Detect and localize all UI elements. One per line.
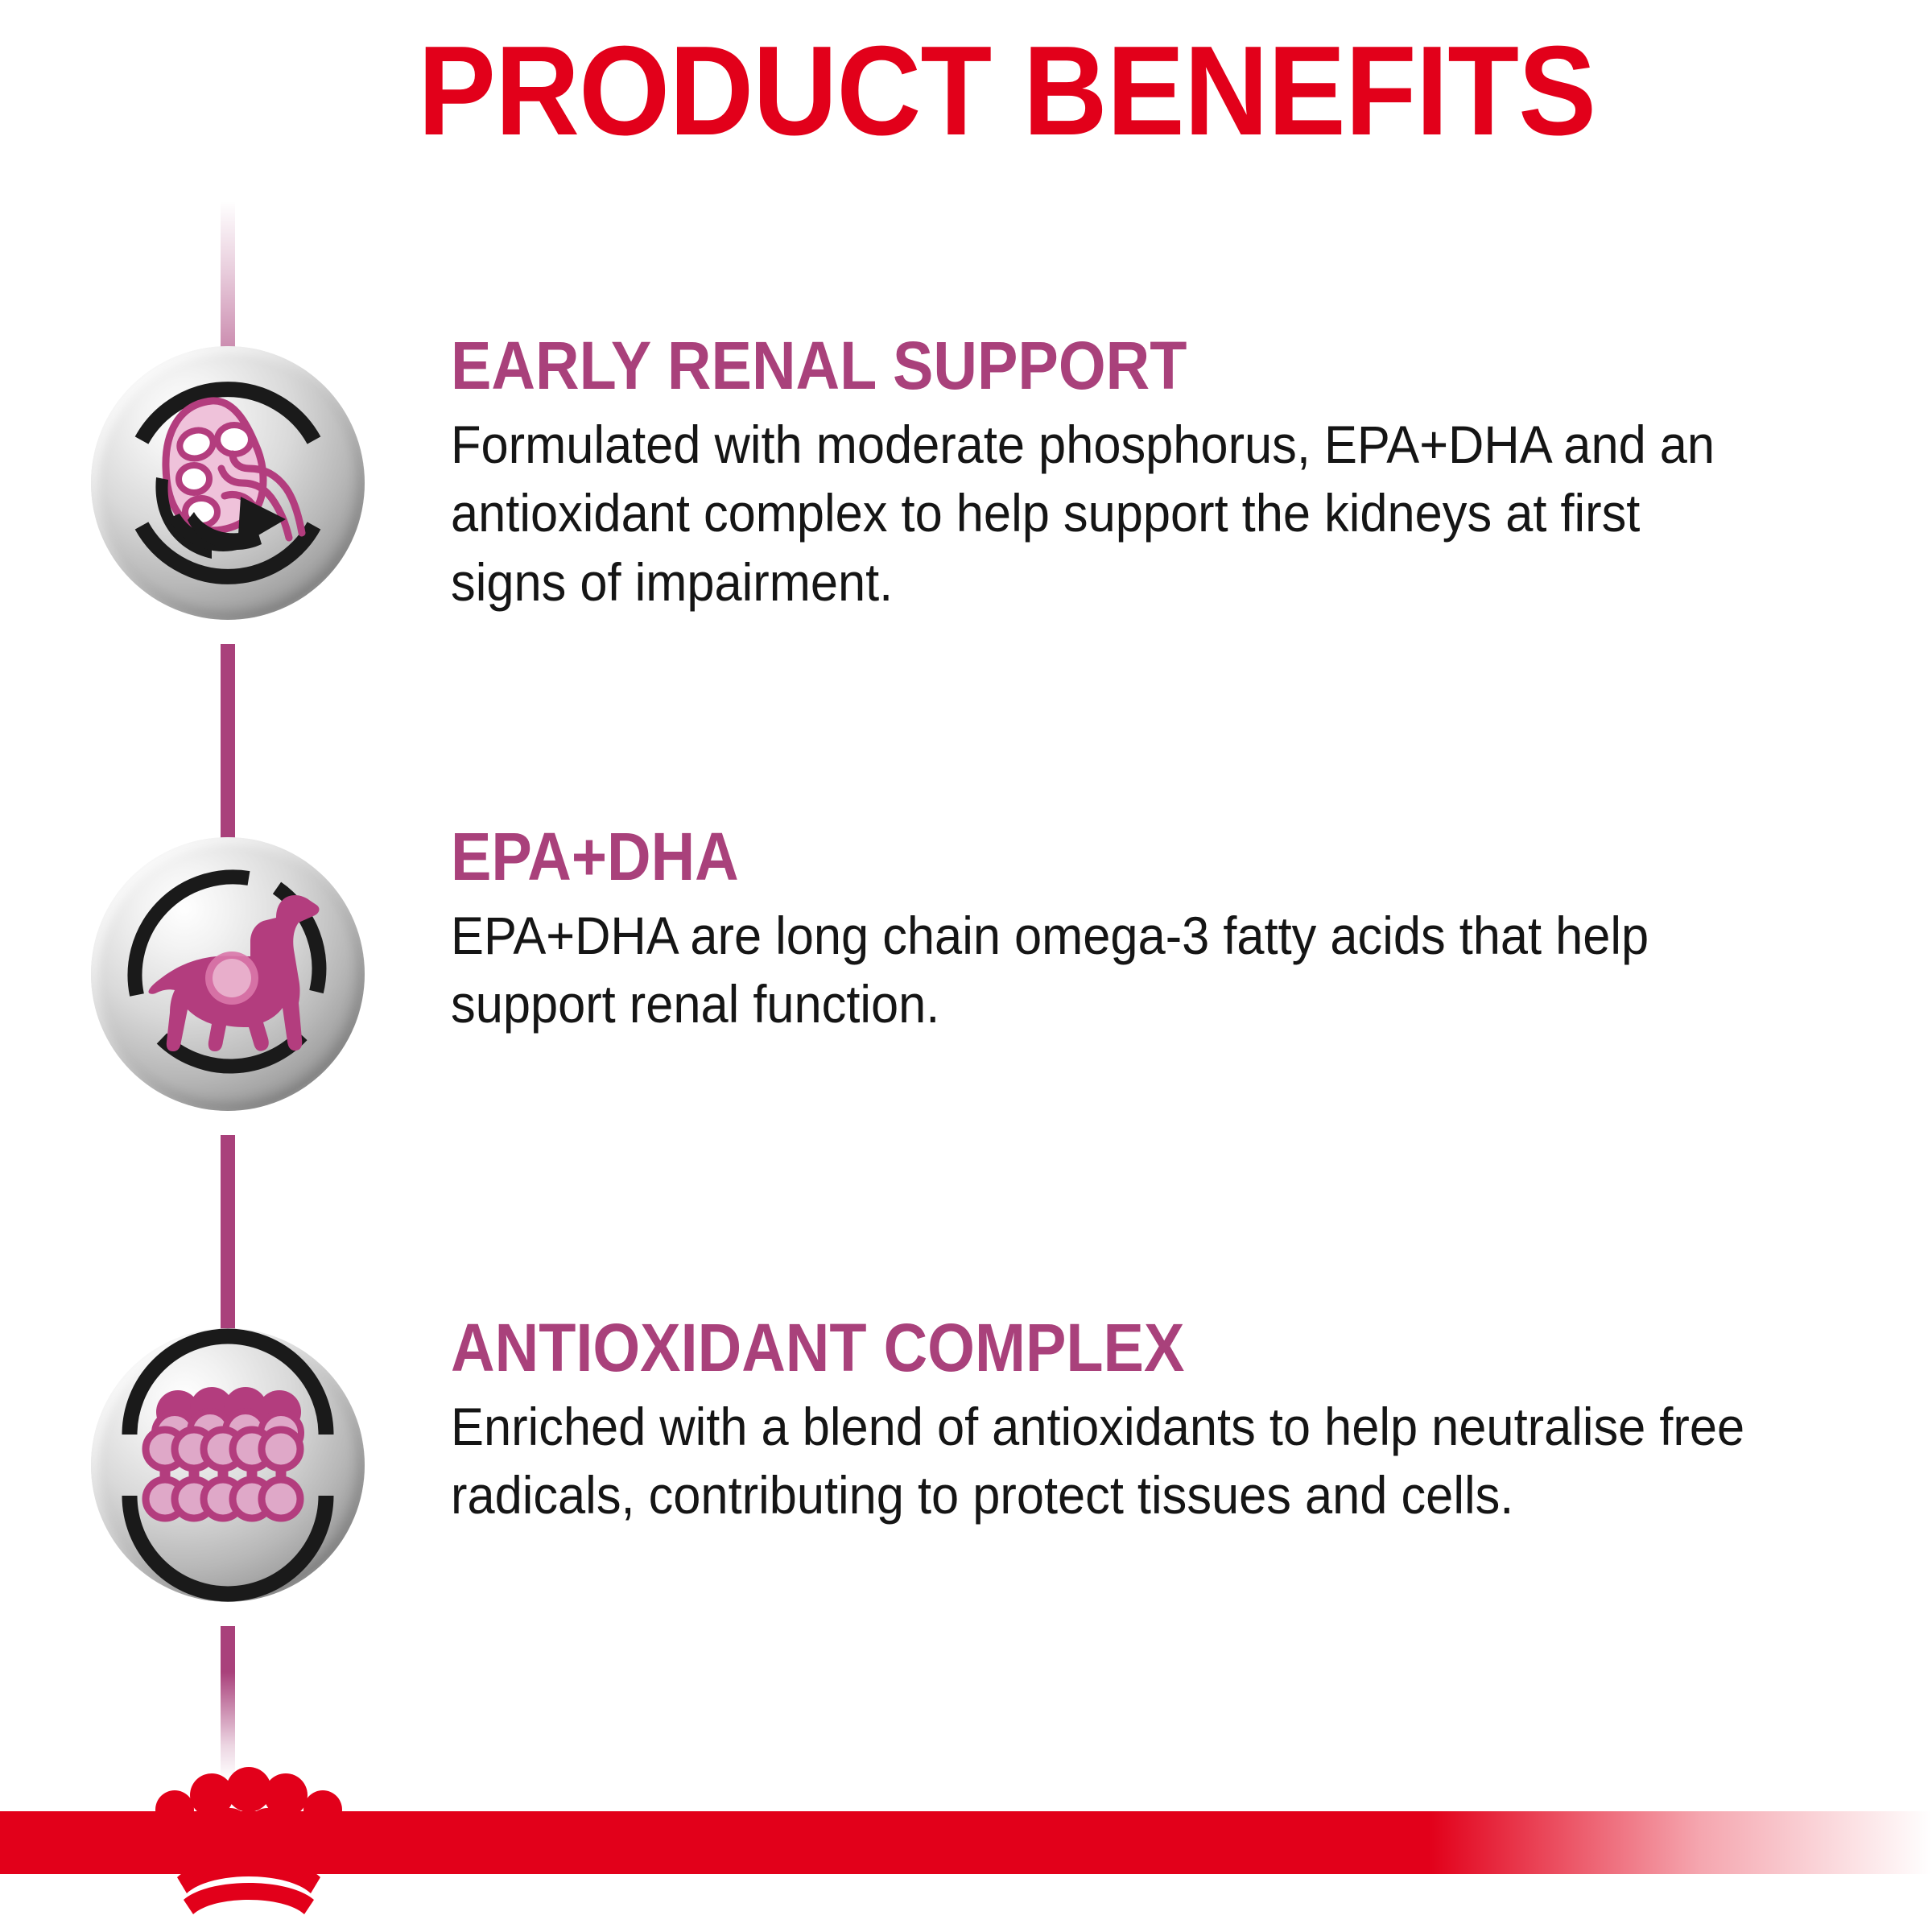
benefit-text-block: EPA+DHA EPA+DHA are long chain omega-3 f… <box>451 823 1900 1039</box>
benefit-item: EPA+DHA EPA+DHA are long chain omega-3 f… <box>0 837 1932 1143</box>
benefit-icon-medallion <box>91 1328 365 1602</box>
timeline-segment-bottom <box>221 1626 235 1779</box>
benefit-icon-medallion <box>91 346 365 620</box>
benefit-title: EPA+DHA <box>451 823 1755 892</box>
benefit-title: ANTIOXIDANT COMPLEX <box>451 1314 1755 1383</box>
benefit-body: EPA+DHA are long chain omega-3 fatty aci… <box>451 902 1769 1040</box>
benefit-text-block: EARLY RENAL SUPPORT Formulated with mode… <box>451 332 1900 617</box>
crown-icon <box>142 1765 356 1926</box>
kidney-renal-icon <box>91 346 365 620</box>
benefit-text-block: ANTIOXIDANT COMPLEX Enriched with a blen… <box>451 1314 1900 1530</box>
benefit-icon-medallion <box>91 837 365 1111</box>
benefit-title: EARLY RENAL SUPPORT <box>451 332 1755 401</box>
antioxidant-cell-membrane-icon <box>91 1328 365 1602</box>
benefit-item: EARLY RENAL SUPPORT Formulated with mode… <box>0 346 1932 652</box>
benefit-body: Formulated with moderate phosphorus, EPA… <box>451 411 1769 617</box>
page-title: PRODUCT BENEFITS <box>77 27 1855 155</box>
timeline-segment-middle-2 <box>221 1135 235 1344</box>
royal-canin-crown-logo <box>142 1765 356 1926</box>
dog-silhouette-icon <box>91 837 365 1111</box>
timeline-segment-middle-1 <box>221 644 235 853</box>
benefit-item: ANTIOXIDANT COMPLEX Enriched with a blen… <box>0 1328 1932 1634</box>
benefit-body: Enriched with a blend of antioxidants to… <box>451 1393 1769 1531</box>
